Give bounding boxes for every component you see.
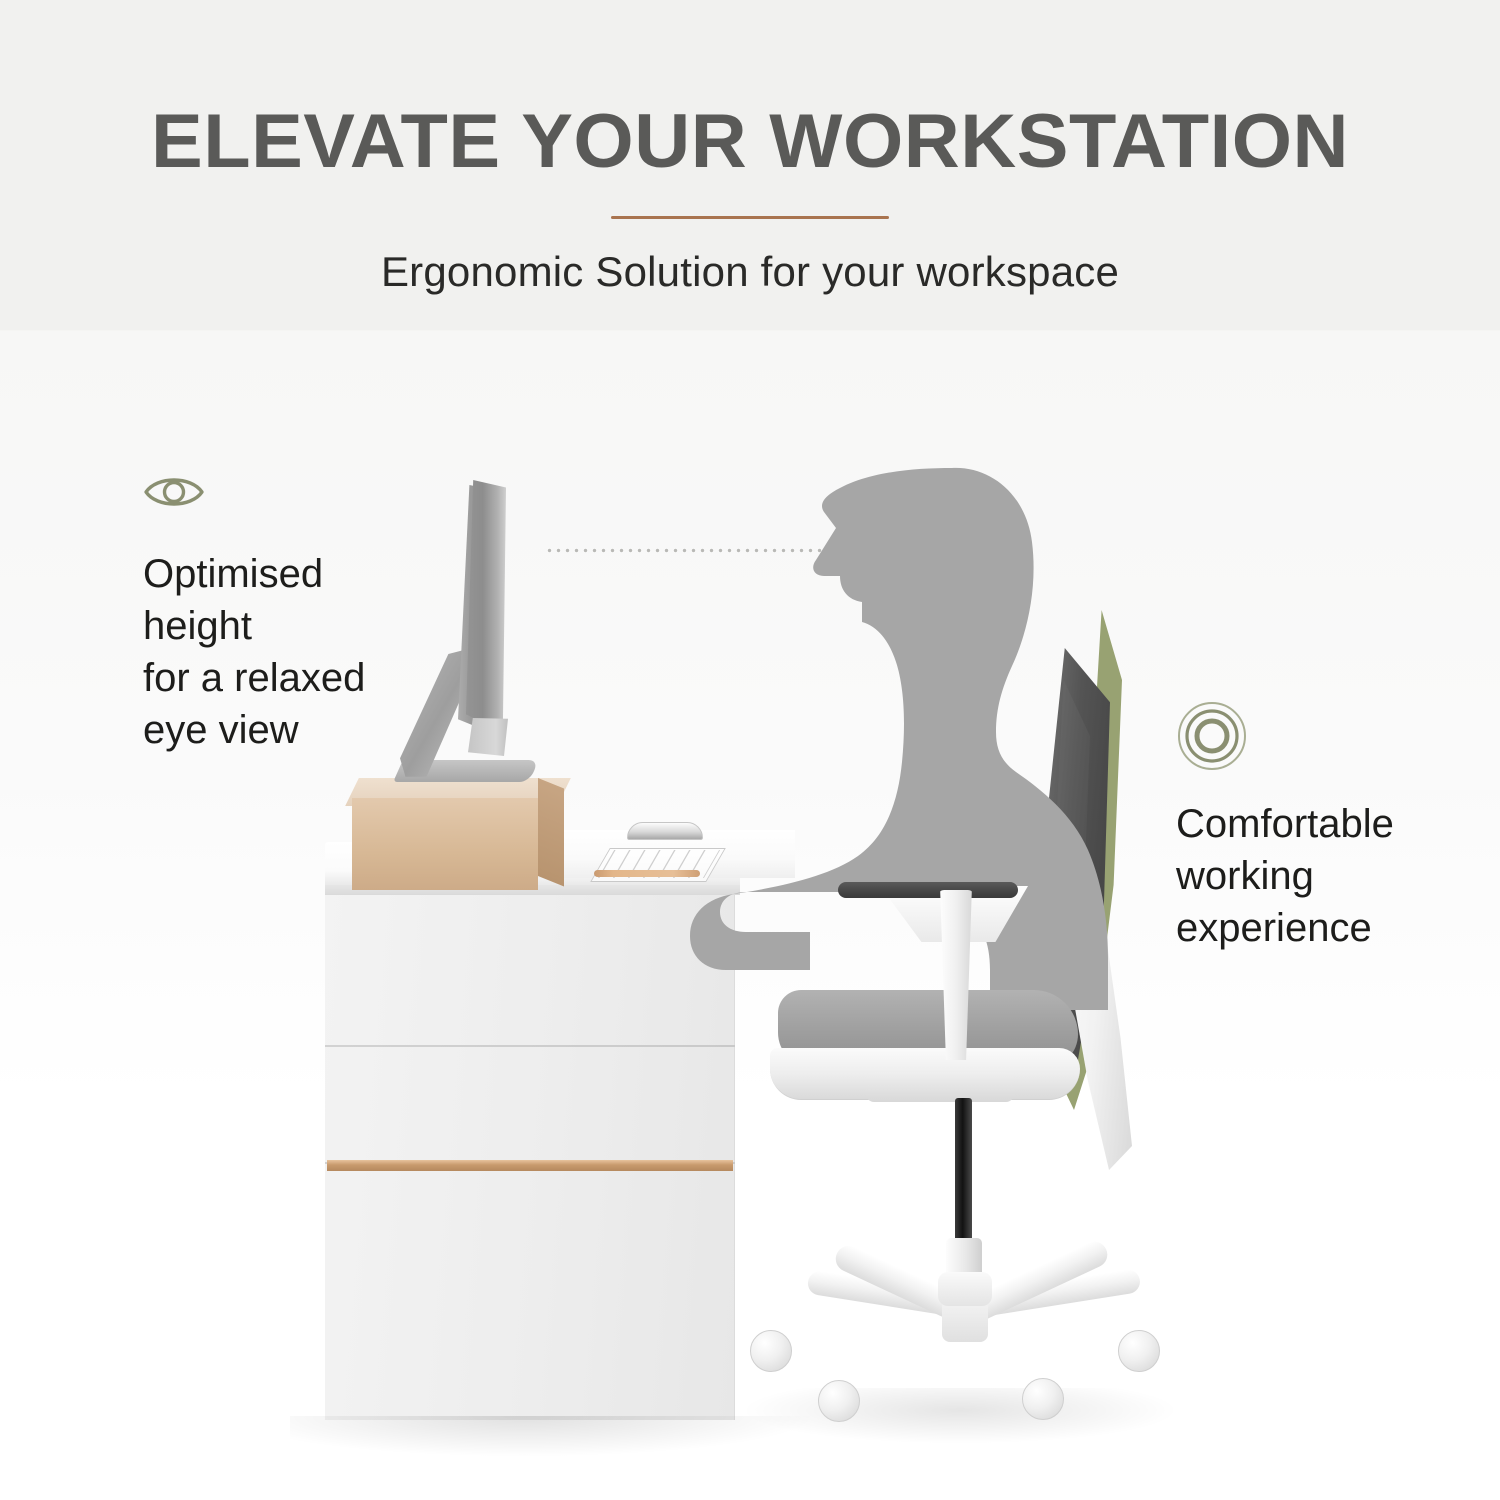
chair-caster (1118, 1330, 1160, 1372)
title-divider (611, 216, 889, 219)
pencil (594, 870, 700, 877)
chair-caster (1022, 1378, 1064, 1420)
callout-right-text: Comfortable working experience (1176, 798, 1476, 954)
armrest-pad (838, 882, 1018, 898)
monitor-riser-block (352, 798, 538, 890)
chair-base-hub (938, 1272, 992, 1306)
concentric-target-icon (1176, 700, 1248, 772)
drawer-divider (325, 1045, 735, 1047)
page-subtitle: Ergonomic Solution for your workspace (0, 248, 1500, 296)
callout-left-text: Optimised height for a relaxed eye view (143, 548, 443, 756)
chair-floor-shadow (740, 1388, 1180, 1444)
chair-caster (750, 1330, 792, 1372)
chair-caster (818, 1380, 860, 1422)
gas-cylinder (955, 1098, 972, 1248)
eye-icon (143, 470, 205, 514)
page-title: ELEVATE YOUR WORKSTATION (0, 98, 1500, 185)
monitor-riser-side (538, 778, 564, 887)
wood-accent-strip (327, 1160, 733, 1171)
callout-optimised-height: Optimised height for a relaxed eye view (143, 470, 443, 756)
chair-tilt-mechanism (866, 1072, 1014, 1102)
product-scene: Optimised height for a relaxed eye view … (0, 330, 1500, 1500)
monitor-chin (468, 718, 508, 756)
header-band: ELEVATE YOUR WORKSTATION Ergonomic Solut… (0, 0, 1500, 330)
person-silhouette (690, 450, 1110, 1070)
poster-canvas: ELEVATE YOUR WORKSTATION Ergonomic Solut… (0, 0, 1500, 1500)
cabinet-floor-shadow (290, 1416, 810, 1456)
desk-cabinet (325, 890, 735, 1420)
callout-comfortable-working: Comfortable working experience (1176, 700, 1476, 954)
